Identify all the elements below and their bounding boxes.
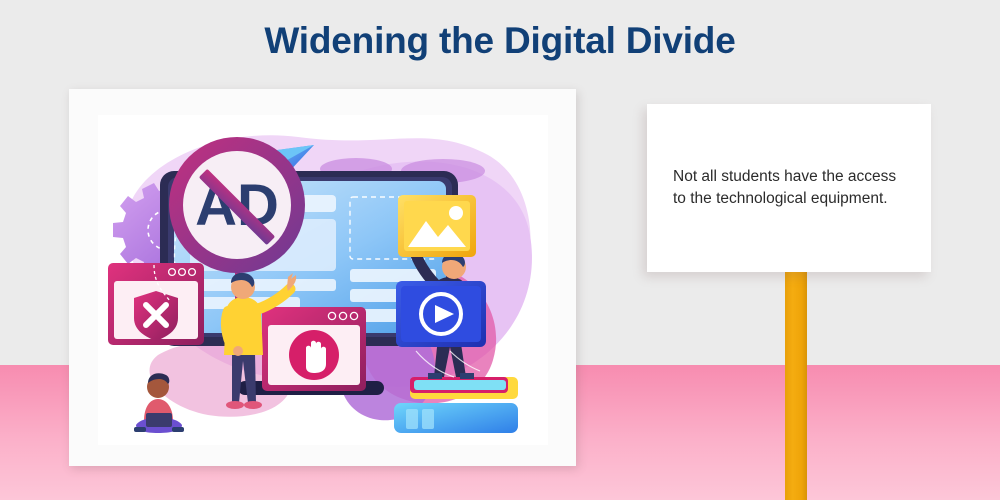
books-stack — [394, 377, 518, 433]
illustration-frame: AD — [69, 89, 576, 466]
slide-canvas: Widening the Digital Divide Not all stud… — [0, 0, 1000, 500]
sign-post — [785, 262, 807, 500]
sign-board: Not all students have the access to the … — [647, 104, 931, 272]
shield-window-card — [108, 263, 204, 345]
stop-hand-icon — [289, 330, 339, 380]
stop-hand-window-card — [262, 307, 366, 391]
sign-board-text: Not all students have the access to the … — [673, 166, 913, 210]
image-card — [398, 195, 476, 257]
page-title: Widening the Digital Divide — [0, 20, 1000, 62]
ad-blocking-illustration: AD — [98, 115, 548, 445]
illustration-canvas: AD — [98, 115, 548, 445]
video-card — [396, 281, 486, 347]
